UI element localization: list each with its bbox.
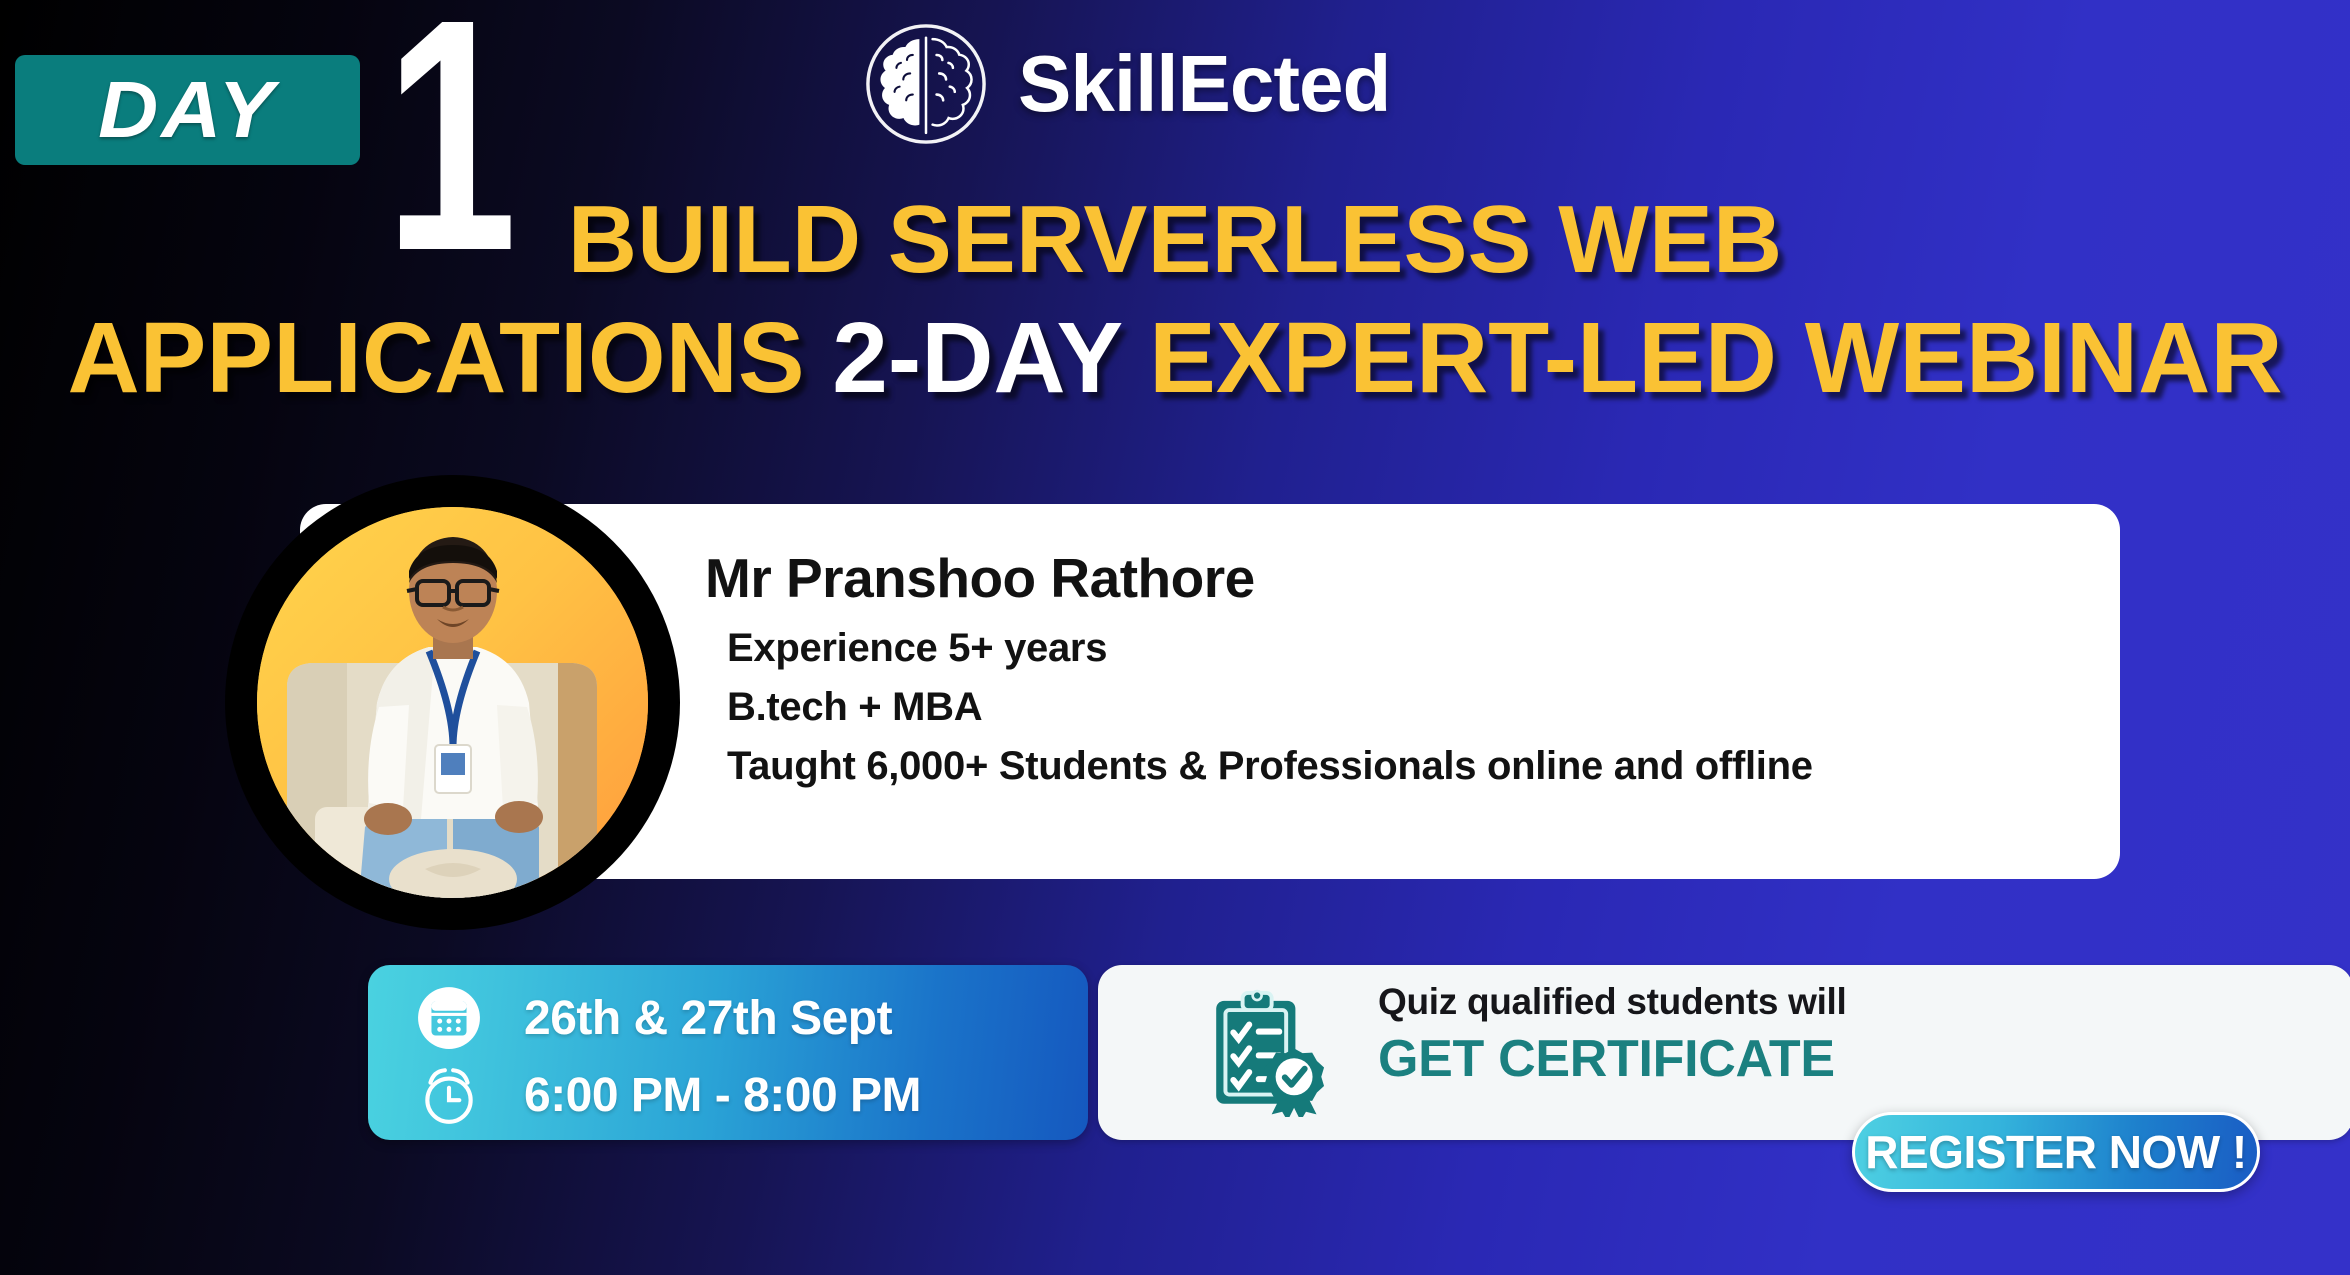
speaker-name: Mr Pranshoo Rathore xyxy=(705,546,2085,610)
webinar-promo-banner: DAY 1 SkillEcted BUILD SERVERLESS WEB AP… xyxy=(0,0,2350,1275)
speaker-photo-illustration xyxy=(257,507,648,898)
speaker-photo xyxy=(257,507,648,898)
day-badge-label: DAY xyxy=(8,55,367,165)
speaker-detail-education: B.tech + MBA xyxy=(727,685,2085,730)
headline-two-day: 2-DAY xyxy=(832,302,1121,414)
brain-icon xyxy=(860,18,992,150)
schedule-time-row: 6:00 PM - 8:00 PM xyxy=(368,1060,1088,1130)
page-title: BUILD SERVERLESS WEB APPLICATIONS 2-DAY … xyxy=(0,192,2350,408)
certificate-text: Quiz qualified students will GET CERTIFI… xyxy=(1378,981,2278,1089)
clipboard-certificate-icon xyxy=(1203,985,1335,1117)
schedule-date-row: 26th & 27th Sept xyxy=(368,983,1088,1053)
brand-logo: SkillEcted xyxy=(860,18,1390,150)
headline-applications: APPLICATIONS xyxy=(67,302,832,414)
alarm-clock-icon xyxy=(416,1062,482,1128)
headline-expert-led: EXPERT-LED WEBINAR xyxy=(1121,302,2282,414)
calendar-icon xyxy=(416,985,482,1051)
certificate-subtitle: Quiz qualified students will xyxy=(1378,981,2278,1023)
day-badge: DAY xyxy=(15,55,360,165)
info-row: Quiz qualified students will GET CERTIFI… xyxy=(368,965,1986,1140)
avatar xyxy=(225,475,680,930)
certificate-title: GET CERTIFICATE xyxy=(1378,1029,2278,1089)
register-now-button[interactable]: REGISTER NOW ! xyxy=(1852,1112,2260,1192)
schedule-panel: 26th & 27th Sept 6:00 PM - 8:00 PM xyxy=(368,965,1088,1140)
speaker-info: Mr Pranshoo Rathore Experience 5+ years … xyxy=(705,546,2085,803)
schedule-time-label: 6:00 PM - 8:00 PM xyxy=(524,1068,921,1123)
speaker-detail-experience: Experience 5+ years xyxy=(727,626,2085,671)
headline-line-1: BUILD SERVERLESS WEB xyxy=(0,192,2350,288)
headline-line-1-text: BUILD SERVERLESS WEB xyxy=(568,186,1782,293)
speaker-detail-students: Taught 6,000+ Students & Professionals o… xyxy=(727,744,2085,789)
brand-name: SkillEcted xyxy=(1018,38,1390,130)
schedule-date-label: 26th & 27th Sept xyxy=(524,991,892,1046)
register-now-label: REGISTER NOW ! xyxy=(1865,1125,2246,1179)
headline-line-2: APPLICATIONS 2-DAY EXPERT-LED WEBINAR xyxy=(0,308,2350,408)
